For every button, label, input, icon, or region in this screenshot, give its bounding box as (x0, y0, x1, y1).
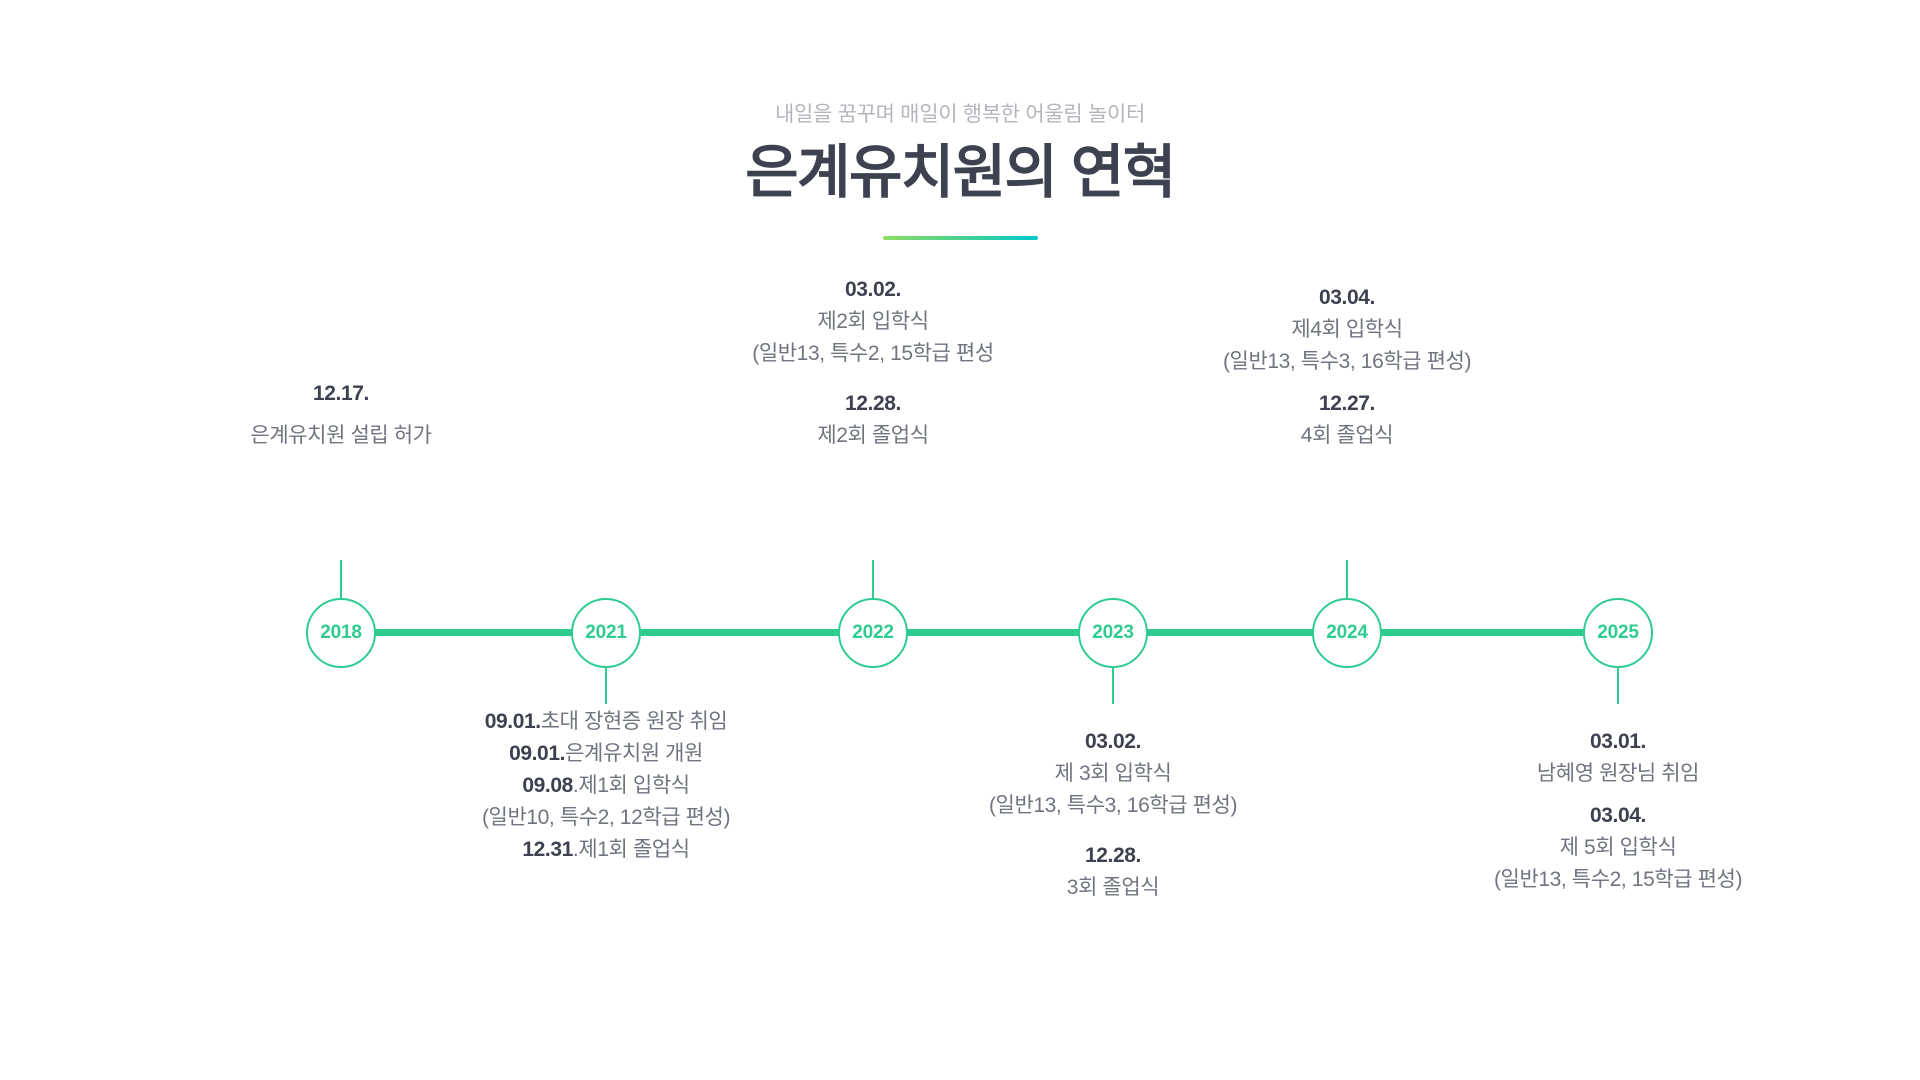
event-date: 03.01. (1590, 730, 1646, 753)
event-line: (일반13, 특수3, 16학급 편성) (1117, 346, 1577, 378)
node-label-2021: 2021 (585, 622, 626, 644)
event-line: 제 3회 입학식 (883, 758, 1343, 790)
event-line: 제2회 졸업식 (643, 420, 1103, 452)
event-line: 03.02. (883, 726, 1343, 758)
event-line: (일반10, 특수2, 12학급 편성) (376, 802, 836, 834)
event-line: 제2회 입학식 (643, 306, 1103, 338)
event-line: 12.31.제1회 졸업식 (376, 834, 836, 866)
event-line: 12.28. (883, 840, 1343, 872)
node-label-2024: 2024 (1326, 622, 1367, 644)
event-block-2024: 03.04. 제4회 입학식 (일반13, 특수3, 16학급 편성) 12.2… (1117, 282, 1577, 452)
timeline-page: 내일을 꿈꾸며 매일이 행복한 어울림 놀이터 은계유치원의 연혁 2018 2… (0, 0, 1920, 1080)
node-label-2025: 2025 (1597, 622, 1638, 644)
event-line: (일반13, 특수2, 15학급 편성 (643, 338, 1103, 370)
event-block-2023: 03.02. 제 3회 입학식 (일반13, 특수3, 16학급 편성) 12.… (883, 726, 1343, 904)
event-line: 03.01. (1388, 726, 1848, 758)
event-line: (일반13, 특수2, 15학급 편성) (1388, 864, 1848, 896)
event-date: 03.04. (1319, 286, 1375, 309)
event-line: 12.27. (1117, 388, 1577, 420)
event-date: 12.17. (313, 382, 369, 405)
timeline-node-2022[interactable]: 2022 (838, 598, 908, 668)
event-line: 4회 졸업식 (1117, 420, 1577, 452)
event-line: 제4회 입학식 (1117, 314, 1577, 346)
event-block-2025: 03.01. 남혜영 원장님 취임 03.04. 제 5회 입학식 (일반13,… (1388, 726, 1848, 896)
event-line: 03.04. (1117, 282, 1577, 314)
spacer (111, 410, 571, 420)
event-line: 03.04. (1388, 800, 1848, 832)
event-date: 03.02. (1085, 730, 1141, 753)
event-line: 남혜영 원장님 취임 (1388, 758, 1848, 790)
event-date: 12.28. (1085, 844, 1141, 867)
event-line: 09.01.은계유치원 개원 (376, 738, 836, 770)
timeline-node-2021[interactable]: 2021 (571, 598, 641, 668)
spacer (643, 370, 1103, 388)
timeline-axis (341, 629, 1618, 636)
timeline-node-2018[interactable]: 2018 (306, 598, 376, 668)
event-date: 03.02. (845, 278, 901, 301)
event-date: 12.27. (1319, 392, 1375, 415)
event-line: 09.01.초대 장현증 원장 취임 (376, 706, 836, 738)
event-date: 09.01. (485, 710, 541, 733)
spacer (1117, 378, 1577, 388)
event-line: 12.28. (643, 388, 1103, 420)
timeline-node-2024[interactable]: 2024 (1312, 598, 1382, 668)
spacer (883, 822, 1343, 840)
event-date: 09.01. (509, 742, 565, 765)
event-date: 09.08 (522, 774, 573, 797)
event-block-2018: 12.17. 은계유치원 설립 허가 (111, 378, 571, 452)
event-block-2021: 09.01.초대 장현증 원장 취임 09.01.은계유치원 개원 09.08.… (376, 706, 836, 866)
node-label-2022: 2022 (852, 622, 893, 644)
timeline-node-2025[interactable]: 2025 (1583, 598, 1653, 668)
event-date: 03.04. (1590, 804, 1646, 827)
timeline-node-2023[interactable]: 2023 (1078, 598, 1148, 668)
spacer (1388, 790, 1848, 800)
event-date: 12.31 (522, 838, 573, 861)
event-text: 은계유치원 개원 (565, 742, 703, 765)
event-line: 03.02. (643, 274, 1103, 306)
node-label-2023: 2023 (1092, 622, 1133, 644)
event-text: 초대 장현증 원장 취임 (541, 710, 728, 733)
event-text: .제1회 입학식 (573, 774, 690, 797)
event-line: 제 5회 입학식 (1388, 832, 1848, 864)
event-line: 은계유치원 설립 허가 (111, 420, 571, 452)
event-line: 3회 졸업식 (883, 872, 1343, 904)
node-label-2018: 2018 (320, 622, 361, 644)
event-line: 12.17. (111, 378, 571, 410)
event-block-2022: 03.02. 제2회 입학식 (일반13, 특수2, 15학급 편성 12.28… (643, 274, 1103, 452)
event-line: 09.08.제1회 입학식 (376, 770, 836, 802)
timeline: 2018 2021 2022 2023 2024 2025 12.17. 은계유… (0, 0, 1920, 1080)
event-text: .제1회 졸업식 (573, 838, 690, 861)
event-line: (일반13, 특수3, 16학급 편성) (883, 790, 1343, 822)
event-date: 12.28. (845, 392, 901, 415)
